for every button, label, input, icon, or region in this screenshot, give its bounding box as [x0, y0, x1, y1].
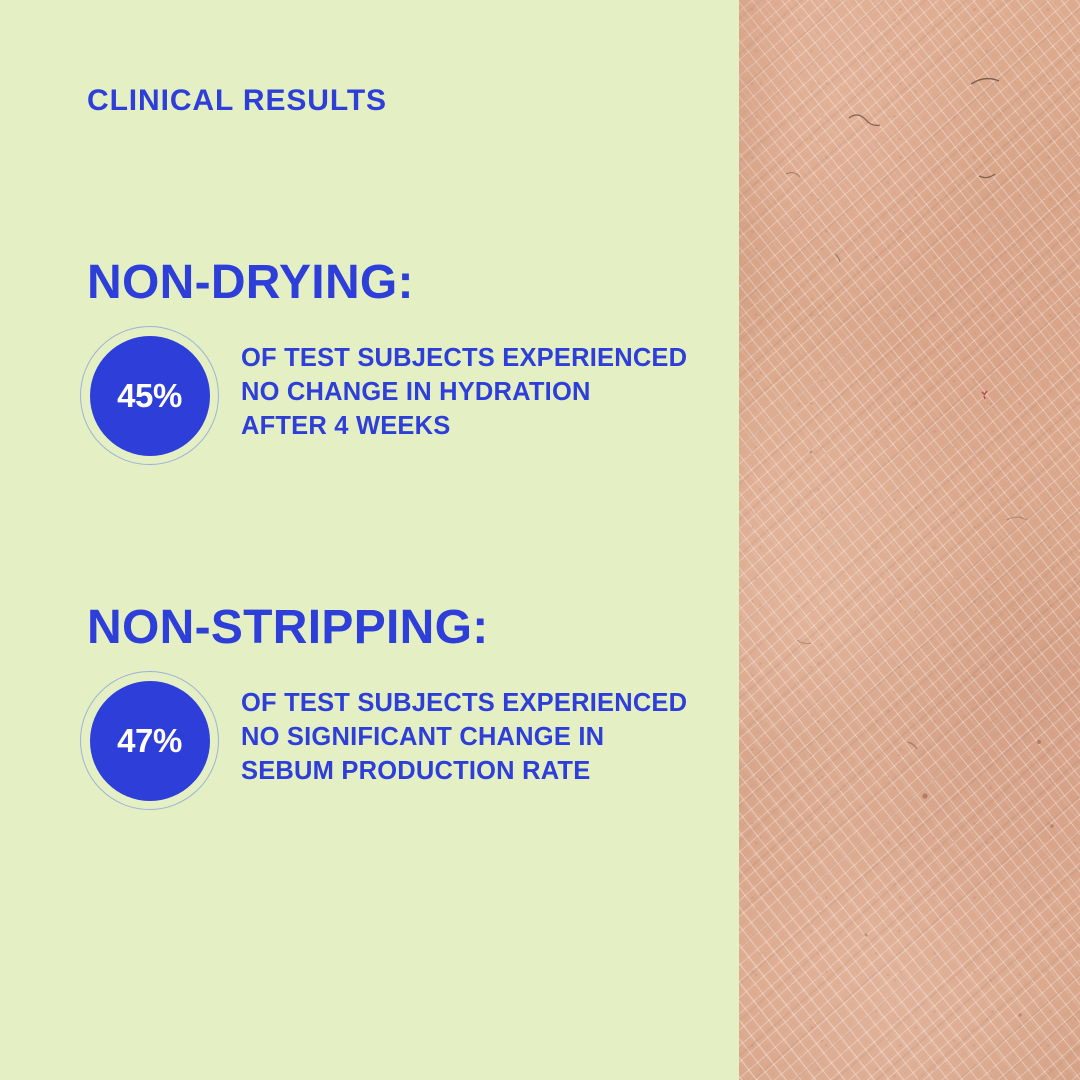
percent-value: 45% [117, 379, 182, 412]
claim-description-line: AFTER 4 WEEKS [241, 410, 711, 444]
claim-body: 47% OF TEST SUBJECTS EXPERIENCED NO SIGN… [0, 671, 739, 821]
percent-badge-disc: 47% [90, 681, 210, 801]
skin-texture-photo [739, 0, 1080, 1080]
claim-description-line: OF TEST SUBJECTS EXPERIENCED [241, 687, 711, 721]
page-title: CLINICAL RESULTS [87, 86, 387, 116]
content-panel: CLINICAL RESULTS NON-DRYING: 45% OF TEST… [0, 0, 739, 1080]
percent-badge-disc: 45% [90, 336, 210, 456]
claim-description-line: SEBUM PRODUCTION RATE [241, 755, 711, 789]
claim-block-non-drying: NON-DRYING: 45% OF TEST SUBJECTS EXPERIE… [0, 258, 739, 476]
claim-description-line: OF TEST SUBJECTS EXPERIENCED [241, 342, 711, 376]
percent-badge: 47% [80, 671, 219, 810]
clinical-results-poster: CLINICAL RESULTS NON-DRYING: 45% OF TEST… [0, 0, 1080, 1080]
percent-badge: 45% [80, 326, 219, 465]
claim-block-non-stripping: NON-STRIPPING: 47% OF TEST SUBJECTS EXPE… [0, 603, 739, 821]
claim-description-line: NO CHANGE IN HYDRATION [241, 376, 711, 410]
percent-value: 47% [117, 724, 182, 757]
claim-description: OF TEST SUBJECTS EXPERIENCED NO SIGNIFIC… [241, 687, 711, 788]
claim-description: OF TEST SUBJECTS EXPERIENCED NO CHANGE I… [241, 342, 711, 443]
claim-title: NON-DRYING: [87, 258, 739, 308]
skin-hairs-and-spots [739, 0, 1080, 1080]
claim-body: 45% OF TEST SUBJECTS EXPERIENCED NO CHAN… [0, 326, 739, 476]
claim-title: NON-STRIPPING: [87, 603, 739, 653]
claim-description-line: NO SIGNIFICANT CHANGE IN [241, 721, 711, 755]
